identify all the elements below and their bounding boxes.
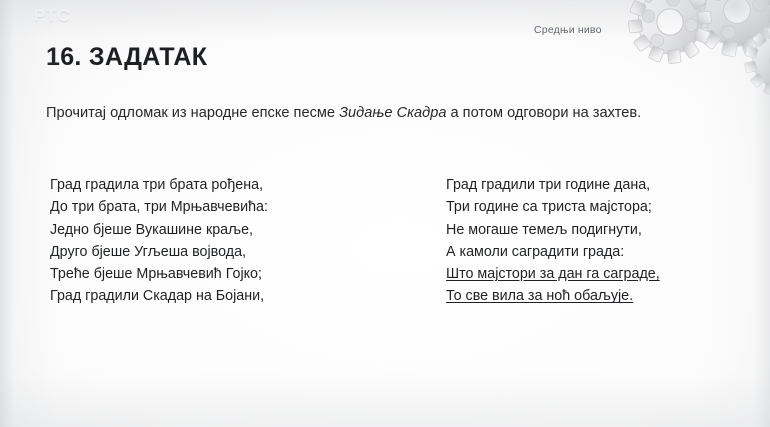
instruction-after: а потом одговори на захтев. [446,105,641,121]
poem-line-right-1: Град градили три године дана, [446,174,660,196]
poem-line-left-5: Треће бјеше Мрњавчевић Гојко; [50,263,268,285]
instruction-text: Прочитај одломак из народне епске песме … [46,101,646,126]
poem-line-left-3: Једно бјеше Вукашине краље, [50,219,268,241]
poem-line-right-4: А камоли саградити града: [446,241,660,263]
poem-line-left-4: Друго бјеше Угљеша војвода, [50,241,268,263]
broadcaster-watermark: РТС [34,6,71,26]
poem-line-right-5: Што мајстори за дан га саграде, [446,263,660,285]
poem-column-right: Град градили три године дана,Три године … [446,174,660,308]
slide-canvas: РТС [0,0,770,427]
poem-line-left-6: Град градили Скадар на Бојани, [50,285,268,307]
instruction-before: Прочитај одломак из народне епске песме [46,105,339,121]
poem-line-right-2: Три године са триста мајстора; [446,196,660,218]
difficulty-level-label: Средњи ниво [534,24,602,36]
poem-line-left-1: Град градила три брата рођена, [50,174,268,196]
poem-line-right-3: Не могаше темељ подигнути, [446,219,660,241]
work-title: Зидање Скадра [339,105,446,121]
gears-decoration [554,0,770,116]
page-title: 16. ЗАДАТАК [46,43,207,72]
poem-line-right-6: То све вила за ноћ обаљује. [446,285,660,307]
poem-column-left: Град градила три брата рођена,До три бра… [50,174,268,308]
poem-line-left-2: До три брата, три Мрњавчевића: [50,196,268,218]
